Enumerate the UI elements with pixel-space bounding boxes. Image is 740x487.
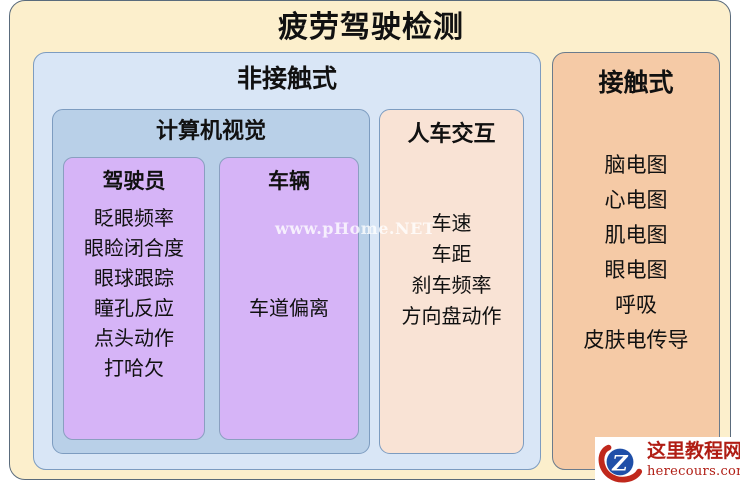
list-item: 车速 bbox=[380, 208, 523, 239]
group-human-vehicle-interaction-items: 车速 车距 刹车频率 方向盘动作 bbox=[380, 208, 523, 332]
list-item: 心电图 bbox=[553, 183, 719, 218]
page-title: 疲劳驾驶检测 bbox=[10, 9, 732, 47]
leaf-vehicle-items: 车道偏离 bbox=[220, 293, 358, 323]
list-item: 车距 bbox=[380, 239, 523, 270]
list-item: 皮肤电传导 bbox=[553, 323, 719, 358]
leaf-vehicle: 车辆 车道偏离 bbox=[219, 157, 359, 440]
logo-site-name: 这里教程网 bbox=[647, 440, 740, 463]
list-item: 车道偏离 bbox=[220, 293, 358, 323]
logo-text: 这里教程网 herecours.com bbox=[647, 440, 740, 480]
branch-contact: 接触式 脑电图 心电图 肌电图 眼电图 呼吸 皮肤电传导 bbox=[552, 52, 720, 470]
group-computer-vision: 计算机视觉 驾驶员 眨眼频率 眼睑闭合度 眼球跟踪 瞳孔反应 点头动作 打哈欠 … bbox=[52, 109, 370, 454]
leaf-driver-title: 驾驶员 bbox=[64, 167, 204, 195]
group-computer-vision-title: 计算机视觉 bbox=[53, 117, 369, 147]
svg-text:Z: Z bbox=[611, 451, 629, 476]
logo-domain: herecours.com bbox=[647, 463, 740, 480]
group-human-vehicle-interaction: 人车交互 车速 车距 刹车频率 方向盘动作 bbox=[379, 109, 524, 454]
list-item: 眨眼频率 bbox=[64, 203, 204, 233]
list-item: 点头动作 bbox=[64, 323, 204, 353]
branch-contact-title: 接触式 bbox=[553, 66, 719, 100]
diagram-canvas: 疲劳驾驶检测 非接触式 计算机视觉 驾驶员 眨眼频率 眼睑闭合度 眼球跟踪 瞳孔… bbox=[0, 0, 740, 487]
leaf-driver: 驾驶员 眨眼频率 眼睑闭合度 眼球跟踪 瞳孔反应 点头动作 打哈欠 bbox=[63, 157, 205, 440]
branch-contact-items: 脑电图 心电图 肌电图 眼电图 呼吸 皮肤电传导 bbox=[553, 148, 719, 358]
list-item: 眼睑闭合度 bbox=[64, 233, 204, 263]
leaf-vehicle-title: 车辆 bbox=[220, 167, 358, 195]
site-logo-watermark: Z 这里教程网 herecours.com bbox=[595, 437, 740, 487]
list-item: 眼球跟踪 bbox=[64, 263, 204, 293]
list-item: 打哈欠 bbox=[64, 353, 204, 383]
list-item: 眼电图 bbox=[553, 253, 719, 288]
logo-icon: Z bbox=[597, 439, 643, 485]
list-item: 方向盘动作 bbox=[380, 301, 523, 332]
branch-noncontact-title: 非接触式 bbox=[34, 63, 540, 95]
leaf-driver-items: 眨眼频率 眼睑闭合度 眼球跟踪 瞳孔反应 点头动作 打哈欠 bbox=[64, 203, 204, 383]
branch-noncontact: 非接触式 计算机视觉 驾驶员 眨眼频率 眼睑闭合度 眼球跟踪 瞳孔反应 点头动作… bbox=[33, 52, 541, 470]
list-item: 呼吸 bbox=[553, 288, 719, 323]
root-card: 疲劳驾驶检测 非接触式 计算机视觉 驾驶员 眨眼频率 眼睑闭合度 眼球跟踪 瞳孔… bbox=[9, 0, 731, 480]
list-item: 刹车频率 bbox=[380, 270, 523, 301]
list-item: 肌电图 bbox=[553, 218, 719, 253]
group-human-vehicle-interaction-title: 人车交互 bbox=[380, 120, 523, 150]
list-item: 脑电图 bbox=[553, 148, 719, 183]
list-item: 瞳孔反应 bbox=[64, 293, 204, 323]
